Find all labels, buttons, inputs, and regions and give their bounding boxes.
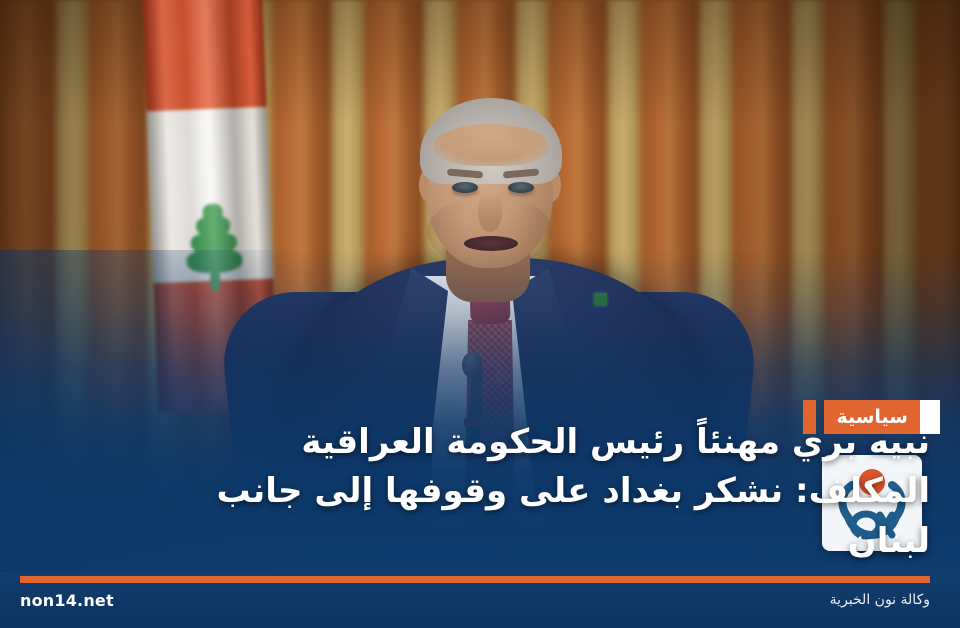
footer-site-url[interactable]: non14.net	[20, 591, 114, 610]
footer-bar: non14.net وكالة نون الخبرية	[0, 572, 960, 628]
footer-agency-name: وكالة نون الخبرية	[830, 592, 930, 608]
news-graphic-card: سياسية نبيه بري مهنئاً رئيس الحكومة العر…	[0, 0, 960, 628]
headline-line-3: لبنان	[162, 517, 930, 566]
headline-line-1: نبيه بري مهنئاً رئيس الحكومة العراقية	[162, 418, 930, 467]
headline-line-2: المكلف: نشكر بغداد على وقوفها إلى جانب	[162, 467, 930, 516]
footer-accent-strip	[20, 576, 930, 583]
headline: نبيه بري مهنئاً رئيس الحكومة العراقية ال…	[162, 418, 930, 566]
